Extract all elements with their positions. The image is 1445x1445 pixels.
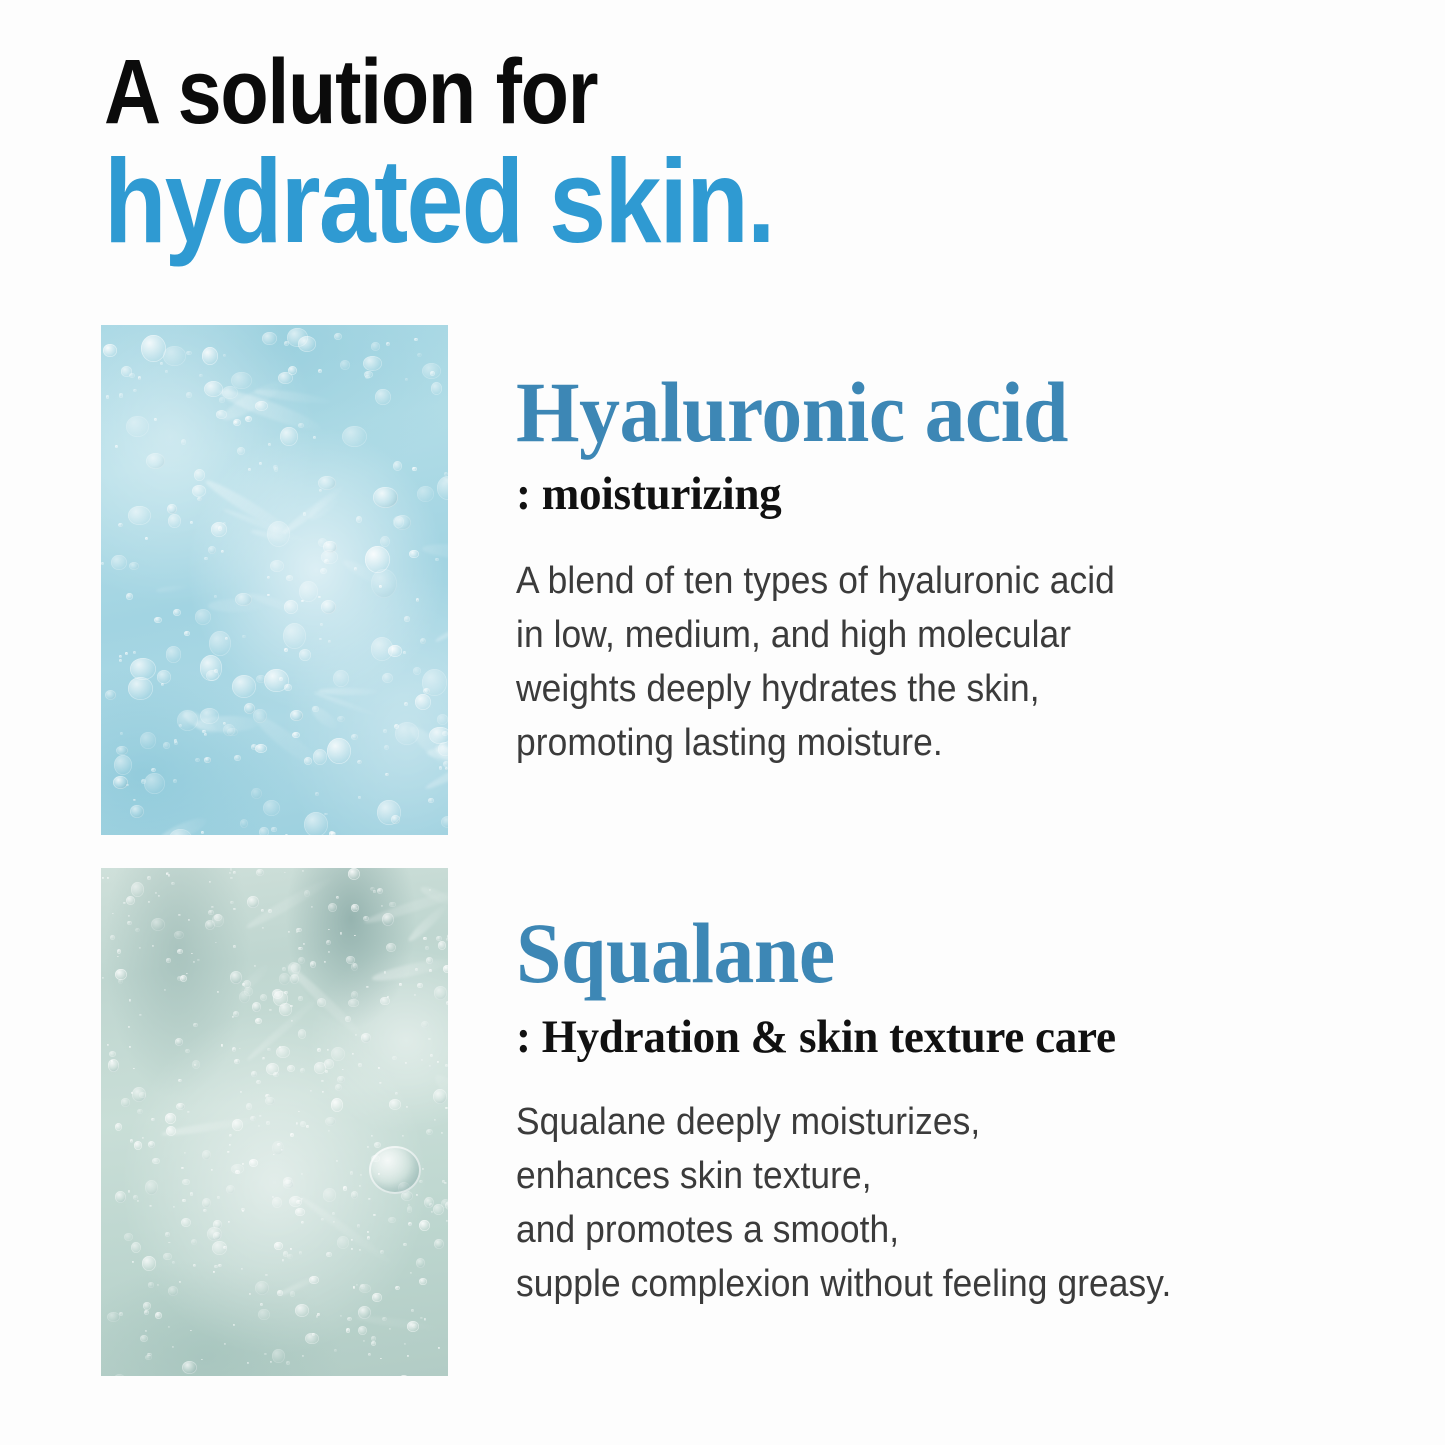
bubble	[416, 1194, 418, 1196]
bubble	[134, 1141, 142, 1150]
bubble	[333, 670, 349, 687]
bubble	[331, 832, 336, 835]
bubble	[431, 1211, 433, 1213]
bubble	[211, 906, 213, 908]
bubble	[406, 1106, 408, 1108]
bubble	[168, 1242, 170, 1244]
bubble	[142, 1256, 157, 1271]
bubble	[299, 1251, 303, 1254]
bubble	[271, 827, 277, 832]
bubble	[420, 1317, 422, 1319]
bubble	[138, 376, 142, 380]
bubble	[413, 667, 421, 675]
bubble	[154, 418, 157, 421]
bubble	[194, 469, 205, 481]
bubble	[388, 645, 402, 657]
bubble	[403, 1243, 407, 1246]
bubble	[446, 938, 448, 941]
bubble	[186, 973, 188, 975]
bubble	[208, 910, 213, 916]
bubble	[119, 393, 124, 397]
bubble	[272, 1141, 284, 1155]
bubble	[262, 1057, 265, 1060]
bubble	[215, 942, 217, 944]
bubble	[280, 427, 298, 447]
bubble	[265, 1097, 274, 1105]
bubble	[352, 1053, 354, 1055]
bubble	[252, 1002, 261, 1012]
bubble	[388, 1217, 396, 1224]
bubble	[407, 1206, 413, 1213]
bubble	[266, 1121, 270, 1124]
bubble	[128, 1026, 130, 1028]
bubble	[137, 1109, 143, 1114]
gel-streak	[308, 704, 340, 733]
bubble	[234, 755, 241, 762]
bubble	[334, 1349, 337, 1352]
bubble	[114, 755, 132, 775]
bubble	[148, 1141, 155, 1148]
bubble	[367, 1231, 369, 1233]
ingredient-benefit-squalane: : Hydration & skin texture care	[516, 1010, 1380, 1064]
bubble	[326, 940, 331, 945]
gel-streak	[434, 620, 448, 644]
bubble	[197, 497, 202, 502]
bubble	[421, 1059, 423, 1061]
bubble	[203, 1209, 207, 1212]
bubble	[168, 874, 171, 877]
bubble	[431, 382, 442, 395]
bubble	[188, 919, 190, 921]
bubble	[313, 436, 316, 439]
bubble	[219, 397, 225, 402]
bubble	[320, 568, 327, 574]
bubble	[191, 1239, 197, 1245]
bubble	[384, 745, 389, 750]
bubble	[419, 1180, 423, 1183]
bubble	[364, 371, 373, 378]
bubble	[163, 742, 170, 749]
headline-line-accent: hydrated skin.	[104, 142, 1050, 261]
bubble	[230, 877, 233, 879]
bubble	[241, 1268, 243, 1270]
bubble	[409, 550, 419, 559]
bubble	[247, 896, 259, 909]
bubble	[117, 956, 119, 958]
headline: A solution for hydrated skin.	[104, 48, 1204, 261]
bubble	[267, 576, 270, 579]
bubble	[184, 1152, 186, 1154]
gel-streak	[250, 711, 325, 774]
gel-streak	[156, 583, 188, 593]
bubble	[212, 1241, 227, 1255]
bubble	[115, 1123, 122, 1131]
bubble	[144, 1310, 149, 1315]
bubble	[176, 1103, 185, 1111]
bubble	[351, 1248, 353, 1250]
bubble	[262, 927, 264, 929]
bubble	[402, 1135, 404, 1137]
bubble	[209, 631, 231, 656]
bubble	[446, 1001, 448, 1005]
bubble	[140, 1335, 148, 1342]
bubble	[152, 945, 154, 947]
bubble	[414, 338, 418, 341]
bubble	[259, 462, 262, 465]
bubble	[133, 1195, 139, 1199]
bubble	[337, 716, 345, 722]
bubble	[202, 347, 218, 365]
bubble	[242, 1163, 244, 1165]
bubble	[218, 1264, 222, 1267]
bubble	[267, 1048, 271, 1051]
bubble	[371, 1336, 376, 1342]
bubble	[430, 1054, 433, 1057]
bubble	[224, 1343, 227, 1345]
bubble	[358, 796, 361, 799]
bubble	[391, 815, 401, 824]
bubble	[298, 947, 302, 951]
bubble	[335, 1084, 342, 1091]
ingredient-name-squalane: Squalane	[516, 910, 1371, 996]
bubble	[374, 1142, 381, 1148]
bubble	[380, 1358, 382, 1360]
bubble	[164, 989, 166, 991]
bubble	[306, 1125, 309, 1128]
bubble	[181, 1167, 184, 1170]
bubble	[334, 333, 342, 340]
bubble	[148, 1282, 154, 1287]
bubble	[265, 1274, 268, 1276]
large-bubble	[369, 1146, 421, 1194]
bubble	[144, 773, 165, 794]
bubble	[273, 1072, 279, 1077]
bubble	[315, 792, 319, 795]
bubble	[340, 1315, 342, 1317]
bubble	[383, 729, 387, 733]
bubble	[231, 372, 252, 389]
bubble	[399, 983, 402, 985]
bubble	[249, 1293, 251, 1295]
bubble	[178, 914, 181, 917]
bubble	[416, 1258, 426, 1268]
bubble	[346, 1328, 351, 1333]
bubble	[437, 714, 448, 725]
bubble	[350, 1171, 353, 1175]
bubble	[147, 876, 151, 880]
bubble	[272, 1349, 285, 1363]
bubble	[111, 555, 127, 571]
bubble	[223, 354, 226, 357]
bubble	[146, 453, 166, 469]
bubble	[221, 550, 224, 553]
bubble	[302, 870, 304, 872]
bubble	[131, 882, 144, 897]
bubble	[373, 487, 398, 508]
bubble	[331, 1047, 346, 1062]
bubble	[351, 734, 358, 740]
bubble	[428, 1038, 431, 1040]
bubble	[175, 1038, 183, 1046]
bubble	[301, 1221, 305, 1224]
bubble	[214, 1265, 218, 1269]
bubble	[165, 1232, 170, 1237]
bubble	[429, 1065, 431, 1067]
bubble	[168, 1326, 170, 1328]
bubble	[353, 1286, 356, 1289]
bubble	[393, 461, 403, 472]
bubble	[445, 1064, 448, 1067]
bubble	[190, 521, 193, 524]
bubble	[299, 649, 312, 661]
bubble	[106, 395, 110, 399]
bubble	[408, 1222, 412, 1226]
bubble	[408, 1204, 410, 1206]
bubble	[437, 1061, 439, 1063]
bubble	[288, 931, 290, 933]
bubble	[415, 694, 431, 710]
bubble	[304, 812, 328, 835]
bubble	[204, 733, 207, 736]
description-line: A blend of ten types of hyaluronic acid	[516, 555, 1353, 609]
bubble	[173, 779, 177, 783]
bubble	[121, 1098, 131, 1106]
bubble	[298, 1111, 300, 1113]
bubble	[113, 776, 128, 789]
bubble	[269, 1009, 272, 1012]
bubble	[109, 1051, 116, 1057]
bubble	[255, 1018, 262, 1024]
bubble	[201, 831, 204, 834]
bubble	[445, 1107, 448, 1109]
bubble	[119, 659, 122, 662]
bubble	[342, 426, 367, 447]
bubble	[256, 1080, 261, 1084]
bubble	[328, 903, 337, 912]
bubble	[179, 1281, 181, 1283]
bubble	[284, 648, 288, 652]
bubble	[259, 1115, 263, 1118]
bubble	[192, 1060, 201, 1069]
bubble	[139, 947, 141, 949]
bubble	[283, 1177, 293, 1186]
gel-streak	[278, 1273, 322, 1298]
bubble	[387, 996, 389, 998]
bubble	[428, 798, 434, 803]
bubble	[325, 1070, 328, 1073]
bubble	[228, 1221, 230, 1223]
bubble	[240, 1091, 243, 1093]
gel-bubbles-layer	[101, 325, 448, 835]
bubble	[202, 1198, 211, 1208]
bubble	[165, 370, 168, 373]
bubble	[310, 1090, 312, 1092]
bubble	[214, 595, 217, 598]
gel-streak	[195, 715, 259, 732]
bubble	[195, 609, 211, 625]
bubble	[128, 506, 151, 526]
bubble	[145, 537, 148, 540]
bubble	[128, 1190, 130, 1192]
bubble	[394, 515, 411, 530]
bubble	[274, 467, 278, 472]
bubble	[157, 670, 172, 684]
bubble	[102, 877, 104, 879]
bubble	[422, 363, 441, 380]
hyaluronic-acid-gel-texture-image	[101, 325, 448, 835]
bubble	[446, 1220, 448, 1222]
bubble	[168, 1286, 178, 1296]
bubble	[205, 920, 216, 930]
bubble	[282, 1259, 285, 1262]
bubble	[399, 1375, 409, 1376]
bubble	[377, 888, 383, 894]
bubble	[211, 522, 227, 537]
bubble	[434, 1119, 436, 1122]
bubble	[157, 1284, 159, 1286]
bubble	[133, 389, 137, 393]
bubble	[379, 1082, 382, 1084]
bubble	[438, 941, 447, 950]
bubble	[192, 485, 206, 497]
bubble	[318, 476, 336, 490]
bubble	[372, 1293, 381, 1302]
bubble	[300, 1068, 305, 1073]
bubble	[404, 616, 410, 621]
bubble	[199, 374, 202, 377]
bubble	[182, 1179, 190, 1185]
bubble	[207, 1227, 221, 1242]
bubble	[425, 946, 429, 950]
bubble	[131, 1242, 142, 1254]
bubble	[213, 1271, 215, 1273]
bubble	[184, 631, 190, 636]
bubble	[246, 1103, 252, 1110]
bubble	[301, 1173, 304, 1175]
bubble	[318, 596, 321, 599]
bubble	[126, 416, 149, 438]
bubble	[321, 1080, 323, 1082]
description-line: and promotes a smooth,	[516, 1204, 1353, 1258]
bubble	[232, 675, 257, 698]
gel-streak	[356, 1313, 439, 1332]
bubble	[233, 1324, 235, 1326]
bubble	[348, 868, 360, 880]
product-infographic: A solution for hydrated skin. Hyaluronic…	[0, 0, 1445, 1445]
bubble	[385, 773, 389, 776]
bubble	[110, 935, 115, 941]
bubble	[107, 1044, 110, 1046]
bubble	[190, 1192, 194, 1196]
bubble	[260, 994, 267, 1001]
bubble	[424, 1318, 427, 1321]
bubble	[290, 710, 303, 721]
bubble	[324, 813, 328, 816]
bubble	[373, 1214, 376, 1217]
bubble	[347, 1317, 352, 1321]
bubble	[139, 1014, 142, 1016]
ingredient-description-hyaluronic: A blend of ten types of hyaluronic acid …	[516, 555, 1353, 771]
bubble	[426, 1129, 433, 1135]
bubble	[166, 958, 172, 963]
bubble	[283, 623, 307, 650]
bubble	[251, 788, 262, 799]
bubble	[217, 1196, 219, 1198]
bubble	[229, 1134, 232, 1137]
bubble	[380, 536, 390, 547]
bubble	[412, 467, 417, 472]
bubble	[251, 744, 257, 750]
bubble	[423, 937, 426, 940]
bubble	[239, 991, 250, 1003]
bubble	[112, 913, 114, 915]
bubble	[107, 877, 109, 879]
gel-streak	[370, 955, 448, 984]
bubble	[105, 690, 116, 700]
bubble	[290, 1133, 294, 1137]
bubble	[143, 1302, 151, 1309]
bubble	[133, 799, 136, 802]
bubble	[129, 562, 139, 570]
bubble	[256, 869, 264, 877]
bubble	[414, 994, 416, 996]
bubble	[416, 598, 419, 602]
bubble	[186, 351, 192, 355]
bubble	[242, 635, 245, 639]
bubble	[298, 996, 303, 1001]
bubble	[407, 1355, 409, 1357]
bubble	[395, 1092, 398, 1095]
bubble	[140, 732, 156, 749]
bubble	[233, 908, 235, 910]
bubble	[178, 1079, 182, 1083]
bubble	[191, 953, 193, 955]
bubble	[163, 1253, 171, 1261]
bubble	[340, 360, 350, 370]
bubble	[118, 523, 123, 527]
bubble	[382, 673, 393, 683]
bubble	[295, 1208, 305, 1216]
bubble	[101, 562, 104, 565]
bubble	[233, 945, 236, 948]
bubble	[371, 1341, 376, 1346]
bubble	[263, 800, 280, 816]
bubble	[182, 1361, 197, 1374]
squalane-oil-texture-image	[101, 868, 448, 1376]
bubble	[187, 1111, 190, 1114]
bubble	[439, 766, 442, 770]
bubble	[121, 366, 132, 377]
bubble	[321, 600, 336, 614]
bubble	[318, 369, 322, 373]
bubble	[182, 1199, 185, 1203]
bubble	[177, 949, 184, 954]
bubble	[270, 1361, 272, 1363]
bubble	[351, 991, 359, 999]
bubble	[125, 652, 128, 655]
bubble	[118, 979, 123, 984]
bubble	[116, 746, 128, 756]
bubble	[373, 890, 375, 893]
bubble	[392, 1056, 397, 1060]
bubble	[368, 1353, 371, 1356]
bubble	[142, 1137, 144, 1139]
bubble	[180, 975, 187, 982]
bubble	[174, 931, 184, 940]
bubble	[185, 1049, 190, 1054]
bubble	[130, 805, 144, 818]
bubble	[359, 1249, 361, 1251]
